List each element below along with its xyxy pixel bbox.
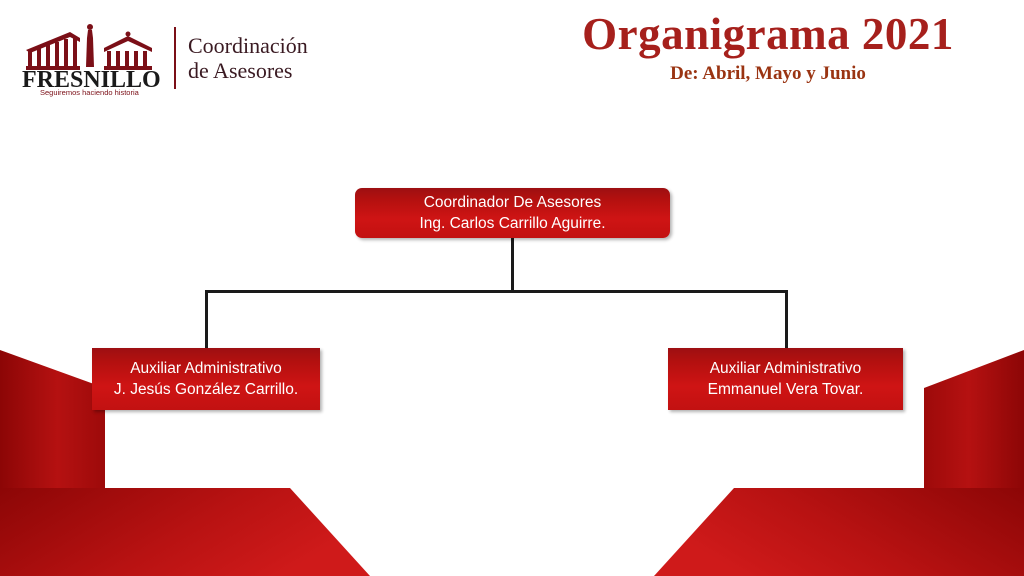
page-title: Organigrama 2021: [520, 8, 1016, 60]
department-line-2: de Asesores: [188, 58, 308, 83]
org-node-coordinator-name: Ing. Carlos Carrillo Aguirre.: [419, 213, 605, 234]
org-node-coordinator-title: Coordinador De Asesores: [424, 194, 602, 211]
connector-horizontal-bar: [205, 290, 788, 293]
department-line-1: Coordinación: [188, 33, 308, 58]
fresnillo-logo: FRESNILLO Seguiremos haciendo historia: [18, 18, 166, 98]
aqueduct-colonnade-emblem: FRESNILLO Seguiremos haciendo historia: [18, 18, 166, 98]
page-subtitle: De: Abril, Mayo y Junio: [520, 62, 1016, 86]
connector-root-vertical: [511, 238, 514, 293]
slide-canvas: FRESNILLO Seguiremos haciendo historia C…: [0, 0, 1024, 576]
department-name: Coordinación de Asesores: [188, 33, 308, 83]
connector-left-vertical: [205, 290, 208, 348]
connector-right-vertical: [785, 290, 788, 348]
org-node-coordinator[interactable]: Coordinador De Asesores Ing. Carlos Carr…: [355, 188, 670, 238]
org-node-auxiliar-1-name: J. Jesús González Carrillo.: [114, 379, 298, 400]
org-node-auxiliar-2-title: Auxiliar Administrativo: [710, 360, 862, 377]
org-node-auxiliar-1[interactable]: Auxiliar Administrativo J. Jesús Gonzále…: [92, 348, 320, 410]
brand-logo-block: FRESNILLO Seguiremos haciendo historia C…: [18, 18, 308, 98]
title-block: Organigrama 2021 De: Abril, Mayo y Junio: [520, 8, 1016, 86]
decor-bottom-right-shape: [464, 488, 1024, 576]
logo-tagline-text: Seguiremos haciendo historia: [40, 88, 140, 97]
org-node-auxiliar-1-title: Auxiliar Administrativo: [130, 360, 282, 377]
logo-divider: [174, 27, 176, 89]
org-node-auxiliar-2[interactable]: Auxiliar Administrativo Emmanuel Vera To…: [668, 348, 903, 410]
decor-bottom-left-shape: [0, 488, 560, 576]
org-node-auxiliar-2-name: Emmanuel Vera Tovar.: [708, 379, 864, 400]
